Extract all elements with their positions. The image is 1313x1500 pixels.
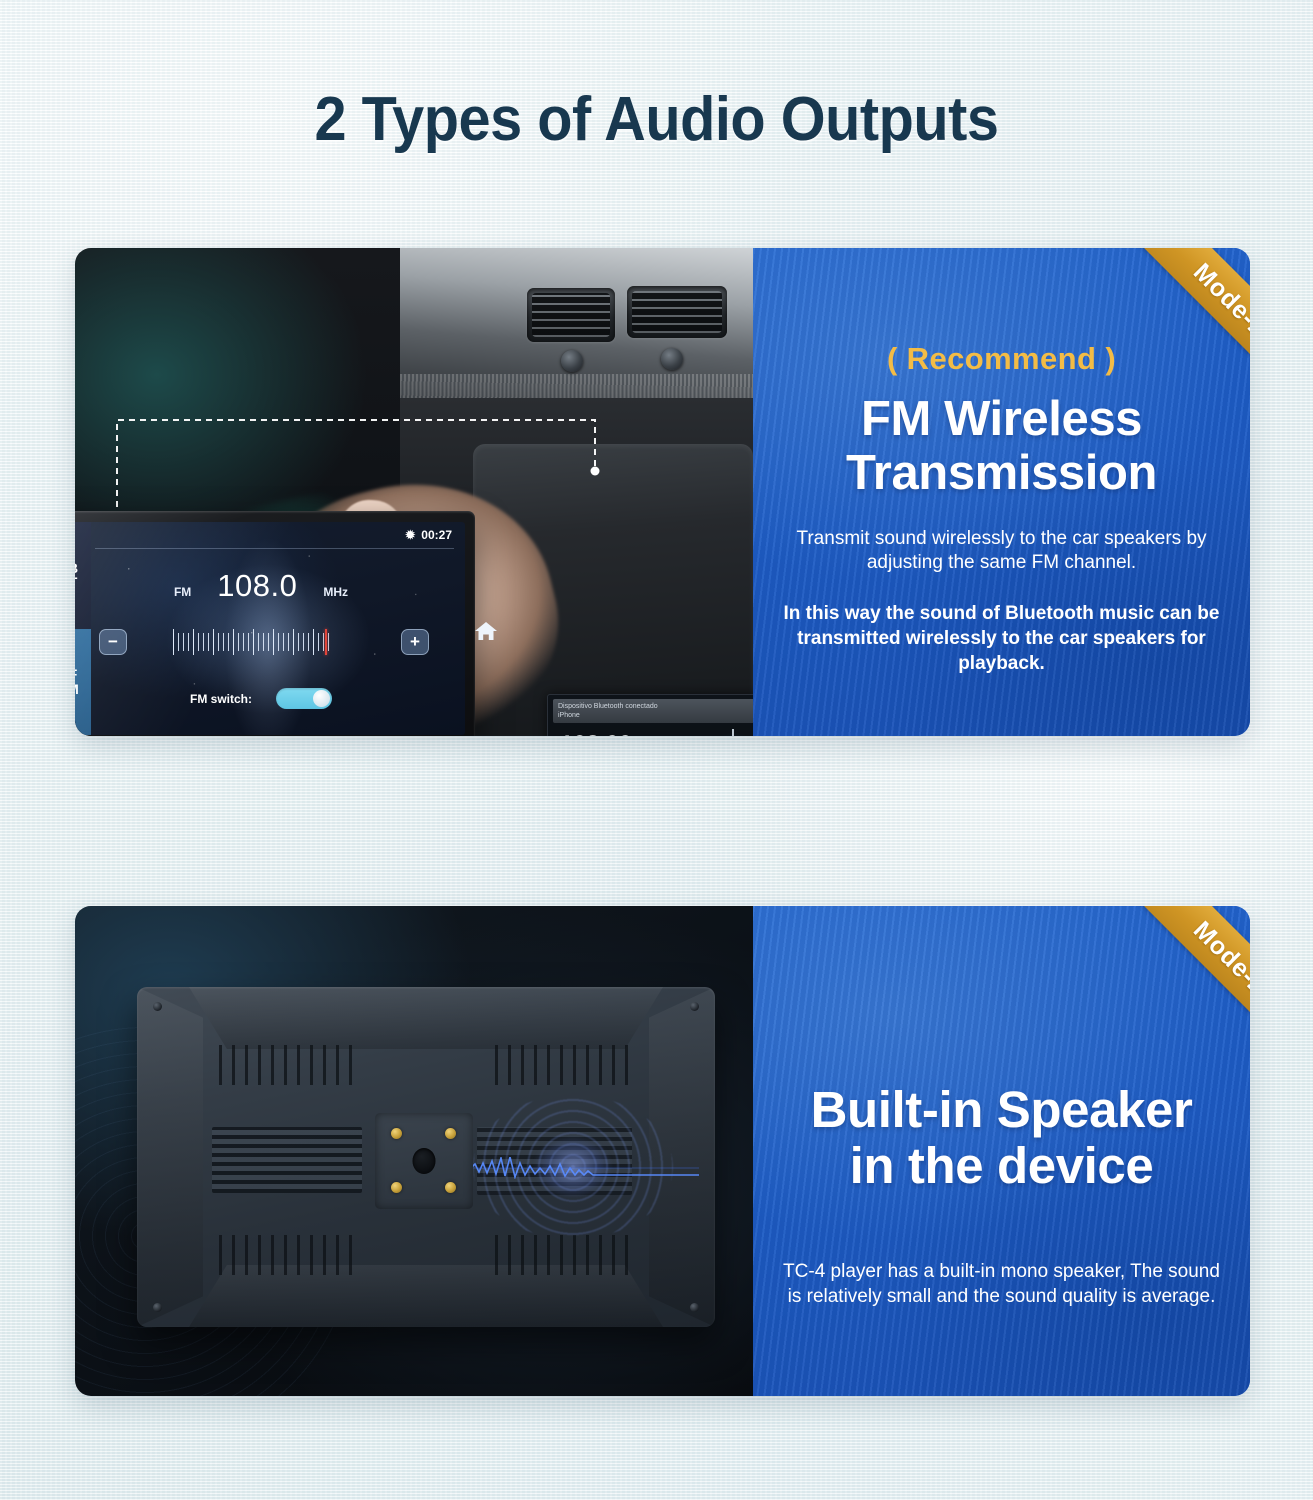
car-radio-frequency: 108.00MHz	[560, 731, 668, 736]
tab-fm[interactable]: F M	[75, 629, 91, 736]
vent-slots-top-left	[219, 1045, 353, 1085]
mode-1-ribbon-label: Mode-1	[1188, 258, 1250, 343]
dashboard-trim	[400, 374, 753, 400]
car-radio-display: Dispositivo Bluetooth conectado iPhone 1…	[547, 694, 753, 736]
back-bevel-top	[189, 987, 663, 1049]
mode-2-ribbon: Mode-2	[1100, 906, 1250, 1056]
device-frequency-value: 108.0	[217, 568, 297, 604]
mode-1-paragraph-regular: Transmit sound wirelessly to the car spe…	[753, 527, 1250, 576]
heatsink-fins-left	[212, 1127, 362, 1193]
frequency-decrease-button[interactable]: −	[99, 629, 127, 655]
mode-2-ribbon-label: Mode-2	[1188, 916, 1250, 1001]
back-bevel-left	[137, 987, 203, 1327]
mode-2-paragraph: TC-4 player has a built-in mono speaker,…	[753, 1260, 1250, 1309]
tab-bt-label-t: T	[75, 575, 77, 590]
mode-1-card: Dispositivo Bluetooth conectado iPhone 1…	[75, 248, 1250, 736]
tuning-scale[interactable]	[173, 629, 355, 655]
mode-2-headline: Built-in Speaker in the device	[753, 1082, 1250, 1194]
status-time: 00:27	[421, 528, 452, 542]
mode-2-headline-line2: in the device	[753, 1138, 1250, 1194]
mount-screw-top-right	[445, 1128, 456, 1139]
mode-2-headline-line1: Built-in Speaker	[753, 1082, 1250, 1138]
band-label: FM	[174, 585, 191, 599]
mount-screw-bottom-left	[391, 1182, 402, 1193]
car-radio-frequency-value: 108.00	[560, 731, 632, 736]
home-icon[interactable]	[473, 618, 499, 644]
toggle-knob	[313, 690, 330, 707]
mount-screw-top-left	[391, 1128, 402, 1139]
recommend-label: ( Recommend )	[753, 341, 1250, 377]
screen-divider	[95, 548, 454, 549]
ac-vent-knob-left	[561, 350, 583, 372]
vent-slots-bottom-right	[495, 1235, 629, 1275]
ac-vent-left	[527, 288, 615, 342]
fm-switch-toggle[interactable]	[276, 688, 332, 709]
fm-switch-label: FM switch:	[190, 692, 252, 706]
device-frequency-unit: MHz	[323, 585, 348, 599]
tab-fm-label-f: F	[75, 667, 77, 682]
corner-screw-top-right	[690, 1002, 699, 1011]
mode-1-headline-line2: Transmission	[753, 447, 1250, 501]
tab-fm-label-m: M	[75, 682, 79, 697]
frequency-increase-button[interactable]: +	[401, 629, 429, 655]
vent-slots-top-right	[495, 1045, 629, 1085]
mode-1-photo: Dispositivo Bluetooth conectado iPhone 1…	[75, 248, 753, 736]
device-status-bar: ✹ 00:27	[405, 528, 452, 542]
corner-screw-bottom-right	[690, 1303, 699, 1312]
tuning-scale-major-ticks	[173, 629, 333, 655]
mode-2-photo	[75, 906, 753, 1396]
mode-1-info-panel: Mode-1 ( Recommend ) FM Wireless Transmi…	[753, 248, 1250, 736]
device-side-tabs: B T F M	[75, 522, 91, 735]
bluetooth-icon: ✹	[405, 528, 415, 542]
mode-1-headline-line1: FM Wireless	[753, 393, 1250, 447]
mount-screw-bottom-right	[445, 1182, 456, 1193]
mount-center-hole	[413, 1148, 436, 1174]
device-tuning-row: − +	[99, 629, 429, 655]
ac-vent-right	[627, 286, 727, 338]
device-back-panel	[137, 987, 715, 1327]
fm-tower-icon: FM	[696, 725, 753, 736]
vesa-mount-plate	[375, 1113, 473, 1209]
device-screen: ✹ 00:27 B T F M	[75, 522, 465, 735]
device-bezel: ✹ 00:27 B T F M	[75, 511, 475, 736]
fm-switch-row: FM switch:	[91, 688, 431, 709]
corner-screw-bottom-left	[153, 1303, 162, 1312]
tab-bt-label-b: B	[75, 561, 78, 576]
tc4-device-front: ✹ 00:27 B T F M	[75, 511, 475, 736]
ac-vent-knob-right	[661, 348, 683, 370]
tab-bt[interactable]: B T	[75, 522, 91, 629]
bt-banner-line1: Dispositivo Bluetooth conectado	[558, 702, 753, 711]
corner-screw-top-left	[153, 1002, 162, 1011]
tuning-scale-marker	[325, 629, 327, 655]
mode-1-paragraph-bold: In this way the sound of Bluetooth music…	[753, 602, 1250, 676]
bt-banner-line2: iPhone	[558, 711, 753, 720]
mode-1-headline: FM Wireless Transmission	[753, 393, 1250, 501]
mode-2-info-panel: Mode-2 Built-in Speaker in the device TC…	[753, 906, 1250, 1396]
mode-2-card: Mode-2 Built-in Speaker in the device TC…	[75, 906, 1250, 1396]
page-title: 2 Types of Audio Outputs	[46, 84, 1267, 155]
car-radio-bt-banner: Dispositivo Bluetooth conectado iPhone	[553, 699, 753, 723]
device-frequency-row: FM 108.0 MHz	[91, 568, 431, 604]
vent-slots-bottom-left	[219, 1235, 353, 1275]
